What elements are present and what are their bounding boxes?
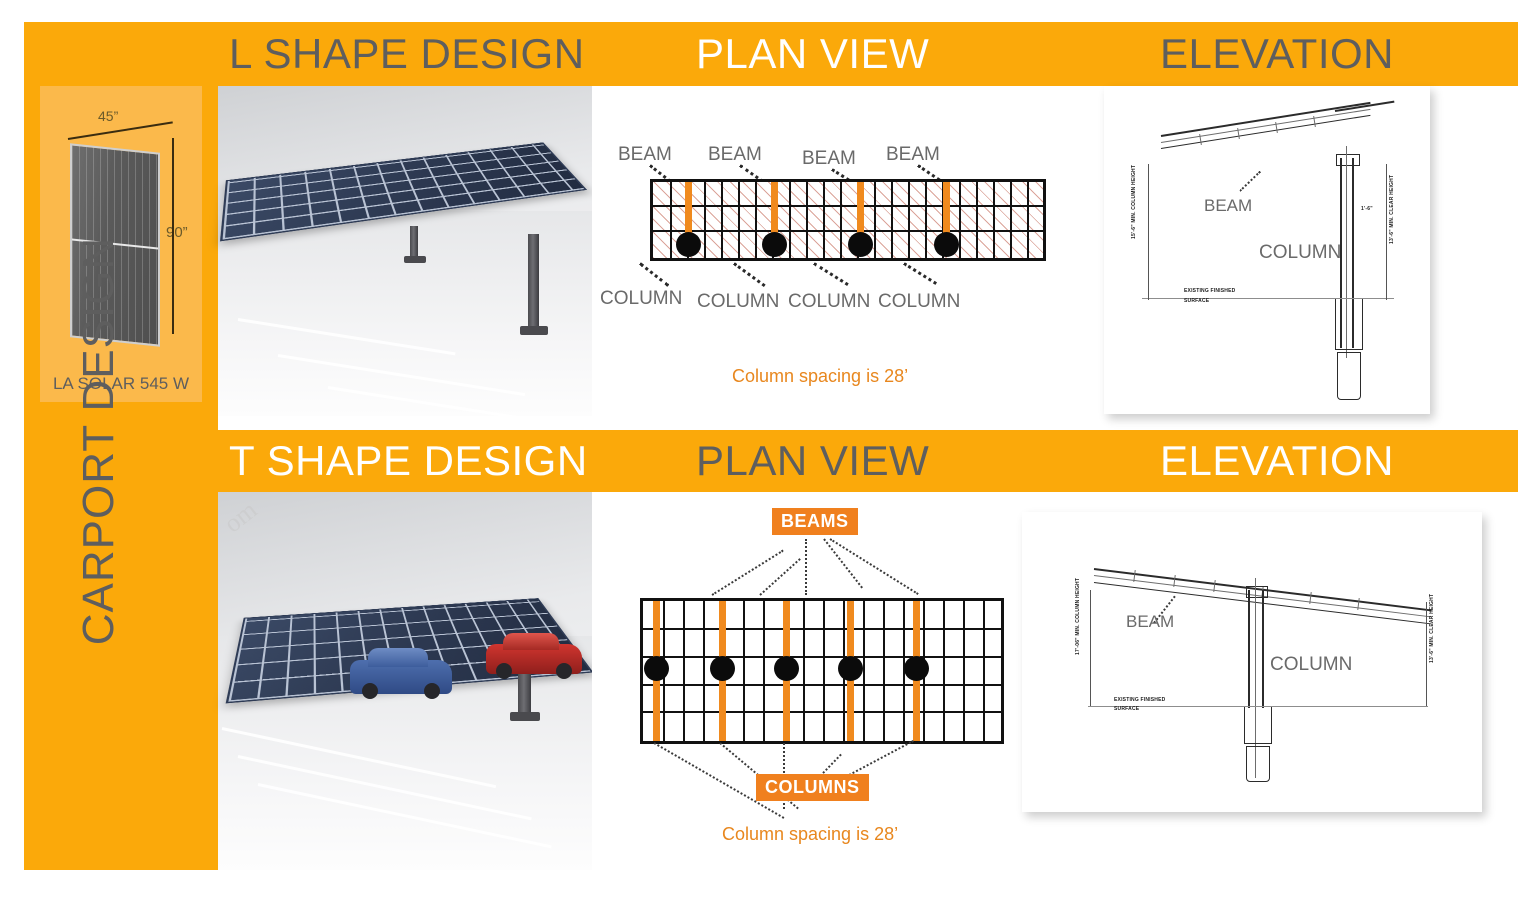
panel-height-rule — [172, 138, 174, 334]
mid-header-band: T SHAPE DESIGN PLAN VIEW ELEVATION — [24, 430, 1518, 492]
header-elevation-top: ELEVATION — [1160, 22, 1394, 86]
plan-label-column-1: COLUMN — [600, 288, 682, 310]
footing-upper — [1335, 298, 1363, 350]
column-base — [510, 712, 540, 721]
panel-width-dimension: 45” — [98, 108, 118, 124]
top-header-band: L SHAPE DESIGN PLAN VIEW ELEVATION — [24, 22, 1518, 86]
watermark-text: om — [218, 495, 263, 539]
dim-text-right: 13'-6" MIN. CLEAR HEIGHT — [1429, 594, 1435, 663]
header-elevation-bottom: ELEVATION — [1160, 430, 1394, 492]
column-marker-5 — [904, 656, 929, 681]
column-marker-4 — [934, 232, 959, 257]
page-title-vertical: CARPORT DESIGN — [74, 126, 124, 756]
dim-text-left: 17'-06" MIN. COLUMN HEIGHT — [1075, 578, 1081, 655]
elevation-sheet-l: EXISTING FINISHED SURFACE 15'-6" MIN. CO… — [1104, 86, 1430, 414]
leader-beam-elev — [1239, 171, 1261, 192]
plan-label-beam-4: BEAM — [886, 144, 940, 166]
column-cap — [1336, 154, 1360, 166]
column-right-edge — [1262, 590, 1264, 708]
ground-note-line2: SURFACE — [1184, 298, 1209, 304]
elev-label-beam: BEAM — [1126, 612, 1174, 632]
leader-column-4 — [903, 262, 937, 285]
column-cap — [1246, 586, 1268, 598]
leader-column-1 — [639, 262, 669, 287]
plan-label-beam-3: BEAM — [802, 148, 856, 170]
plan-label-beam-2: BEAM — [708, 144, 762, 166]
plan-tag-beams: BEAMS — [772, 508, 858, 535]
plan-spacing-note-t: Column spacing is 28’ — [722, 824, 898, 845]
dim-line-left — [1148, 164, 1149, 300]
column-marker-2 — [710, 656, 735, 681]
car-roof — [503, 633, 559, 650]
column-marker-3 — [774, 656, 799, 681]
dim-line-left — [1090, 590, 1091, 706]
elev-label-column: COLUMN — [1259, 242, 1341, 264]
car-wheel — [424, 683, 440, 699]
column-left-edge — [1248, 590, 1250, 708]
plan-view-l-shape: BEAM BEAM BEAM BEAM COLUMN COLUMN C — [592, 86, 1104, 416]
car-wheel — [496, 663, 512, 679]
leader-beams-5 — [829, 538, 918, 595]
car-wheel — [556, 663, 572, 679]
elev-label-column: COLUMN — [1270, 654, 1352, 676]
column-marker-3 — [848, 232, 873, 257]
footing-upper — [1244, 706, 1272, 744]
footing-lower — [1337, 352, 1361, 400]
ground-line — [1142, 298, 1394, 299]
car-wheel — [362, 683, 378, 699]
dim-text-right: 13'-6" MIN. CLEAR HEIGHT — [1389, 175, 1395, 244]
header-plan-view-bottom: PLAN VIEW — [696, 430, 929, 492]
header-t-shape-design: T SHAPE DESIGN — [229, 430, 588, 492]
car-blue — [350, 660, 452, 694]
elevation-sheet-t: EXISTING FINISHED SURFACE 17'-06" MIN. C… — [1022, 512, 1482, 812]
plan-tag-columns: COLUMNS — [756, 774, 869, 801]
column-base — [520, 326, 548, 335]
plan-label-beam-1: BEAM — [618, 144, 672, 166]
render-t-shape-carport: om — [218, 492, 592, 870]
dim-line-right — [1386, 164, 1387, 300]
plan-grid-t — [640, 598, 1004, 744]
column-marker-2 — [762, 232, 787, 257]
support-column-front — [528, 234, 539, 330]
ground-note-line1: EXISTING FINISHED — [1114, 697, 1165, 703]
column-marker-1 — [644, 656, 669, 681]
render-l-shape-carport — [218, 86, 592, 416]
leader-column-2 — [733, 262, 766, 287]
plan-label-column-2: COLUMN — [697, 291, 779, 313]
dim-text-left: 15'-6" MIN. COLUMN HEIGHT — [1131, 165, 1137, 239]
car-roof — [368, 648, 427, 667]
header-l-shape-design: L SHAPE DESIGN — [229, 22, 585, 86]
ground-note-line1: EXISTING FINISHED — [1184, 288, 1235, 294]
column-base — [404, 256, 426, 263]
column-marker-4 — [838, 656, 863, 681]
plan-spacing-note-l: Column spacing is 28’ — [732, 366, 908, 387]
leader-beams-2 — [759, 558, 800, 596]
car-red — [486, 644, 582, 674]
column-marker-1 — [676, 232, 701, 257]
left-sidebar: 45” 90” LA SOLAR 545 W CARPORT DESIGN — [24, 86, 218, 870]
leader-beams-3 — [805, 539, 807, 595]
support-column-rear — [410, 226, 418, 260]
leader-beams-1 — [711, 550, 783, 596]
dim-text-angle: 1'-6" — [1361, 206, 1373, 212]
footing-lower — [1246, 746, 1270, 782]
roof-mid-edge — [1161, 109, 1371, 143]
leader-column-3 — [813, 262, 849, 286]
plan-grid-l — [650, 179, 1046, 261]
plan-label-column-3: COLUMN — [788, 291, 870, 313]
elev-label-beam: BEAM — [1204, 196, 1252, 216]
panel-height-dimension: 90” — [166, 224, 188, 241]
dim-line-right — [1426, 602, 1427, 706]
ground-note-line2: SURFACE — [1114, 706, 1139, 712]
plan-label-column-4: COLUMN — [878, 291, 960, 313]
header-plan-view-top: PLAN VIEW — [696, 22, 929, 86]
